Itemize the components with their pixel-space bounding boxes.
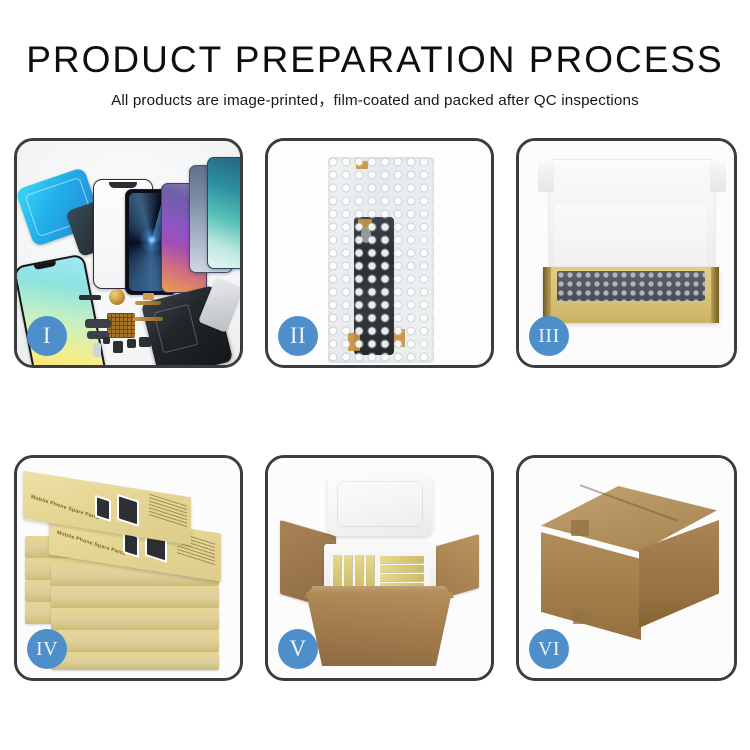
page-subtitle: All products are image-printed，film-coat… xyxy=(0,88,750,110)
bubble-wrap-texture xyxy=(328,157,434,363)
stacked-box-r4 xyxy=(51,630,219,652)
box-specs-back xyxy=(149,494,187,528)
inner-kraft-box-2 xyxy=(344,555,352,589)
inner-kraft-box-6 xyxy=(380,565,424,572)
step-badge-6: VI xyxy=(529,629,569,669)
part-earpiece-mesh xyxy=(79,295,101,300)
carton-tape-lower xyxy=(573,610,591,624)
inner-kraft-box-5 xyxy=(380,556,424,563)
carton-body xyxy=(306,592,452,666)
step-badge-5: V xyxy=(278,629,318,669)
box-label-back: Mobile Phone Spare Parts xyxy=(31,494,100,521)
part-gold-chip xyxy=(143,293,154,300)
part-ribbon-cable-b xyxy=(133,317,163,321)
box-swatch-back-a xyxy=(95,495,111,522)
part-screw-set xyxy=(103,337,110,344)
part-copper-mesh-shield xyxy=(107,313,135,338)
stacked-box-r5 xyxy=(51,652,219,670)
phone-teal-gradient xyxy=(207,157,240,269)
step-badge-1: I xyxy=(27,316,67,356)
part-button-bracket xyxy=(139,337,151,347)
part-ribbon-cable-a xyxy=(135,301,161,305)
step-panel-6: VI xyxy=(516,455,737,681)
step-panel-2: II xyxy=(265,138,494,368)
step-panel-3: III xyxy=(516,138,737,368)
header: PRODUCT PREPARATION PROCESS All products… xyxy=(0,0,750,120)
product-preparation-infographic: PRODUCT PREPARATION PROCESS All products… xyxy=(0,0,750,750)
box-label-front: Mobile Phone Spare Parts xyxy=(57,530,126,557)
stacked-box-r2 xyxy=(51,586,219,608)
part-camera-module xyxy=(113,341,123,353)
process-step-grid: I II III xyxy=(0,138,750,698)
part-speaker-coil xyxy=(109,289,125,305)
bubble-wrapped-contents xyxy=(557,271,705,301)
step-panel-1: I xyxy=(14,138,243,368)
part-sim-tray xyxy=(93,343,101,357)
step-panel-4: Mobile Phone Spare Parts Mobile Phone Sp… xyxy=(14,455,243,681)
stacked-box-r3 xyxy=(51,608,219,630)
step-badge-4: IV xyxy=(27,629,67,669)
inner-kraft-box-4 xyxy=(366,555,374,589)
bubble-wrap-bag xyxy=(328,157,434,363)
part-vibration-motor xyxy=(127,339,136,348)
inner-kraft-box-1 xyxy=(333,555,341,589)
inner-kraft-box-3 xyxy=(355,555,363,589)
step-panel-5: V xyxy=(265,455,494,681)
inner-kraft-box-7 xyxy=(380,574,424,581)
step-badge-2: II xyxy=(278,316,318,356)
part-flex-connector-a xyxy=(85,319,111,328)
foam-box-lid xyxy=(328,474,432,536)
page-title: PRODUCT PREPARATION PROCESS xyxy=(0,38,750,82)
carton-tape-upper xyxy=(571,520,589,536)
box-swatch-back-b xyxy=(117,494,139,527)
step-badge-3: III xyxy=(529,316,569,356)
